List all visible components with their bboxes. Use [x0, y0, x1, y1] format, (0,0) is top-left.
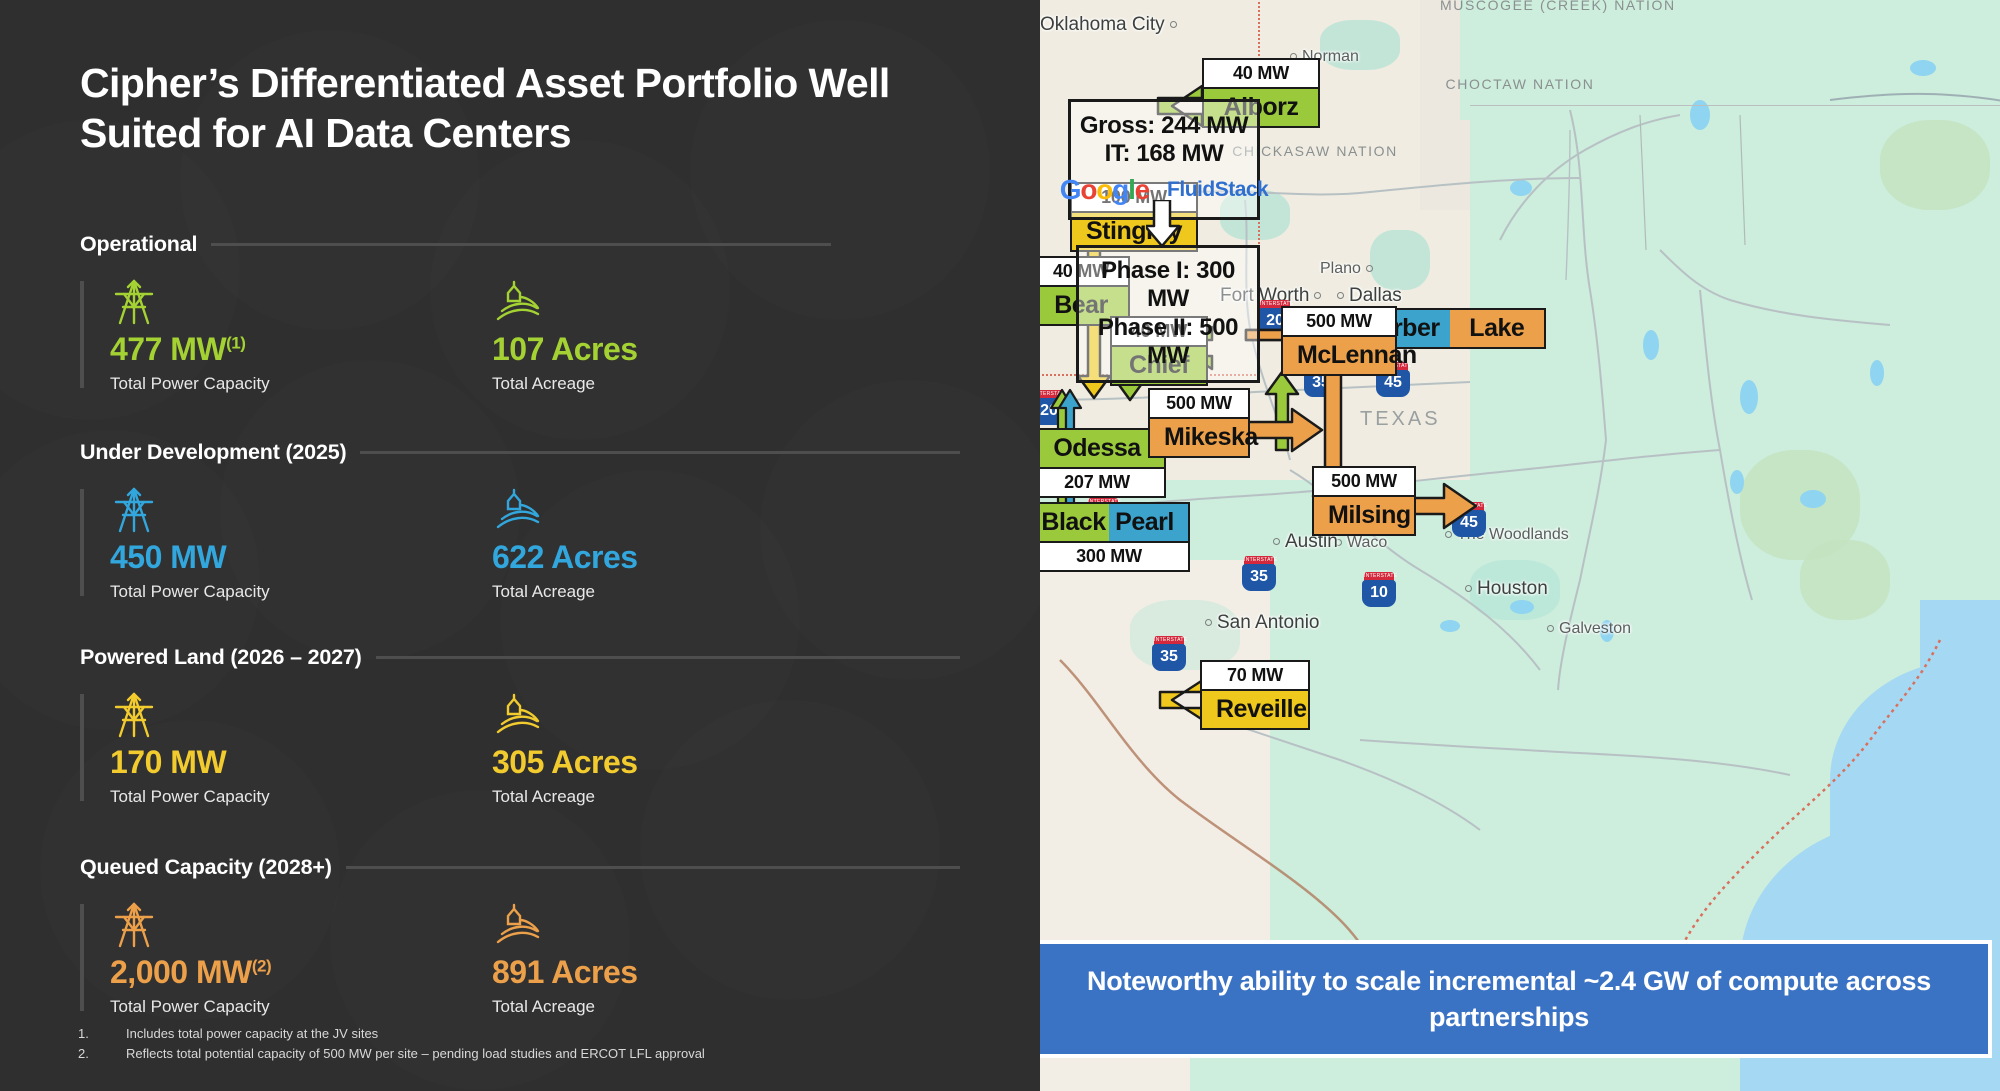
section-body: 450 MW Total Power Capacity 622 Acres To…: [80, 485, 960, 602]
site-name: McLennan: [1283, 335, 1395, 374]
callout-phases: Phase I: 300 MW Phase II: 500 MW: [1076, 245, 1260, 383]
metric-acreage-value: 622 Acres: [492, 541, 638, 573]
scale-banner-text: Noteworthy ability to scale incremental …: [1040, 963, 1988, 1036]
page-title: Cipher’s Differentiated Asset Portfolio …: [80, 58, 980, 158]
site-name-part-2: Pearl: [1109, 504, 1188, 541]
section-accent-bar: [80, 904, 84, 1011]
site-capacity: 500 MW: [1314, 468, 1414, 495]
metric-power: 450 MW Total Power Capacity: [110, 485, 492, 602]
section-accent-bar: [80, 489, 84, 596]
footnote-number: 1.: [78, 1024, 126, 1044]
metric-power-label: Total Power Capacity: [110, 374, 492, 394]
footnote-text: Reflects total potential capacity of 500…: [126, 1044, 705, 1064]
metric-power-label: Total Power Capacity: [110, 787, 492, 807]
metric-acreage: 891 Acres Total Acreage: [492, 900, 638, 1017]
site-name: Odessa: [1040, 430, 1164, 467]
land-acreage-icon: [492, 485, 638, 535]
metric-acreage: 107 Acres Total Acreage: [492, 277, 638, 394]
site-box-milsing[interactable]: 500 MW Milsing: [1312, 466, 1416, 536]
section-header: Operational: [80, 232, 960, 257]
metric-acreage-label: Total Acreage: [492, 374, 638, 394]
site-capacity: 207 MW: [1040, 467, 1164, 496]
footnote-item: 1. Includes total power capacity at the …: [78, 1024, 705, 1044]
transmission-tower-icon: [110, 900, 492, 950]
site-box-mclennan[interactable]: 500 MW McLennan: [1281, 306, 1397, 376]
section-powered-land: Powered Land (2026 – 2027) 170 MW Total …: [80, 645, 960, 807]
metric-power-label: Total Power Capacity: [110, 997, 492, 1017]
site-capacity: 500 MW: [1283, 308, 1395, 335]
site-capacity: 70 MW: [1202, 662, 1308, 689]
section-operational: Operational 477 MW(1) Total Power Capaci…: [80, 232, 960, 394]
site-capacity: 500 MW: [1150, 390, 1248, 417]
metric-power: 2,000 MW(2) Total Power Capacity: [110, 900, 492, 1017]
section-rule: [376, 656, 960, 659]
footnotes: 1. Includes total power capacity at the …: [78, 1024, 705, 1064]
land-acreage-icon: [492, 900, 638, 950]
site-name-part-1: Black: [1040, 504, 1109, 541]
callout-it: IT: 168 MW: [1071, 140, 1257, 168]
metric-power-label: Total Power Capacity: [110, 582, 492, 602]
section-header: Powered Land (2026 – 2027): [80, 645, 960, 670]
callout-connector-arrow-icon: [1146, 200, 1186, 248]
section-accent-bar: [80, 694, 84, 801]
slide-root: Cipher’s Differentiated Asset Portfolio …: [0, 0, 2000, 1091]
metric-acreage-label: Total Acreage: [492, 997, 638, 1017]
metric-acreage-value: 891 Acres: [492, 956, 638, 988]
callout-phase-2: Phase II: 500 MW: [1079, 314, 1257, 371]
land-acreage-icon: [492, 277, 638, 327]
metric-acreage-label: Total Acreage: [492, 582, 638, 602]
footnote-text: Includes total power capacity at the JV …: [126, 1024, 378, 1044]
metric-acreage-value: 305 Acres: [492, 746, 638, 778]
metric-power-value: 450 MW: [110, 541, 492, 573]
site-name: Mikeska: [1150, 417, 1248, 456]
left-panel: Cipher’s Differentiated Asset Portfolio …: [0, 0, 1040, 1091]
transmission-tower-icon: [110, 277, 492, 327]
section-queued-capacity: Queued Capacity (2028+) 2,000 MW(2) Tota…: [80, 855, 960, 1017]
site-name: Milsing: [1314, 495, 1414, 534]
fluidstack-logo-text: FluidStack: [1167, 178, 1268, 202]
section-body: 477 MW(1) Total Power Capacity 107 Acres…: [80, 277, 960, 394]
section-accent-bar: [80, 281, 84, 388]
callout-phase-1: Phase I: 300 MW: [1079, 257, 1257, 314]
footnote-number: 2.: [78, 1044, 126, 1064]
section-title: Queued Capacity (2028+): [80, 855, 332, 880]
metric-acreage-label: Total Acreage: [492, 787, 638, 807]
section-rule: [360, 451, 960, 454]
site-name-part-2: Lake: [1450, 310, 1544, 347]
footnote-item: 2. Reflects total potential capacity of …: [78, 1044, 705, 1064]
metric-power-value: 170 MW: [110, 746, 492, 778]
site-name-split: Black Pearl: [1040, 504, 1188, 541]
metric-acreage: 305 Acres Total Acreage: [492, 690, 638, 807]
section-rule: [346, 866, 960, 869]
section-title: Under Development (2025): [80, 440, 346, 465]
site-box-black-pearl[interactable]: Black Pearl 300 MW: [1040, 502, 1190, 572]
section-header: Queued Capacity (2028+): [80, 855, 960, 880]
site-capacity: 300 MW: [1040, 541, 1188, 570]
transmission-tower-icon: [110, 690, 492, 740]
metric-power: 477 MW(1) Total Power Capacity: [110, 277, 492, 394]
metric-power-value: 2,000 MW(2): [110, 956, 492, 988]
metric-acreage-value: 107 Acres: [492, 333, 638, 365]
section-rule: [211, 243, 831, 246]
site-capacity: 40 MW: [1204, 60, 1318, 87]
metric-power-value: 477 MW(1): [110, 333, 492, 365]
site-name: Reveille: [1202, 689, 1308, 728]
callout-gross: Gross: 244 MW: [1071, 112, 1257, 140]
land-acreage-icon: [492, 690, 638, 740]
transmission-tower-icon: [110, 485, 492, 535]
site-box-mikeska[interactable]: 500 MW Mikeska: [1148, 388, 1250, 458]
section-body: 170 MW Total Power Capacity 305 Acres To…: [80, 690, 960, 807]
scale-banner: Noteworthy ability to scale incremental …: [1040, 940, 1992, 1058]
section-body: 2,000 MW(2) Total Power Capacity 891 Acr…: [80, 900, 960, 1017]
site-box-reveille[interactable]: 70 MW Reveille: [1200, 660, 1310, 730]
metric-acreage: 622 Acres Total Acreage: [492, 485, 638, 602]
section-title: Operational: [80, 232, 197, 257]
section-under-development: Under Development (2025) 450 MW Total Po…: [80, 440, 960, 602]
section-title: Powered Land (2026 – 2027): [80, 645, 362, 670]
section-header: Under Development (2025): [80, 440, 960, 465]
texas-asset-map[interactable]: Oklahoma City Norman Amarillo Clovis Lub…: [1040, 0, 2000, 1091]
google-logo: Google: [1060, 174, 1149, 206]
metric-power: 170 MW Total Power Capacity: [110, 690, 492, 807]
